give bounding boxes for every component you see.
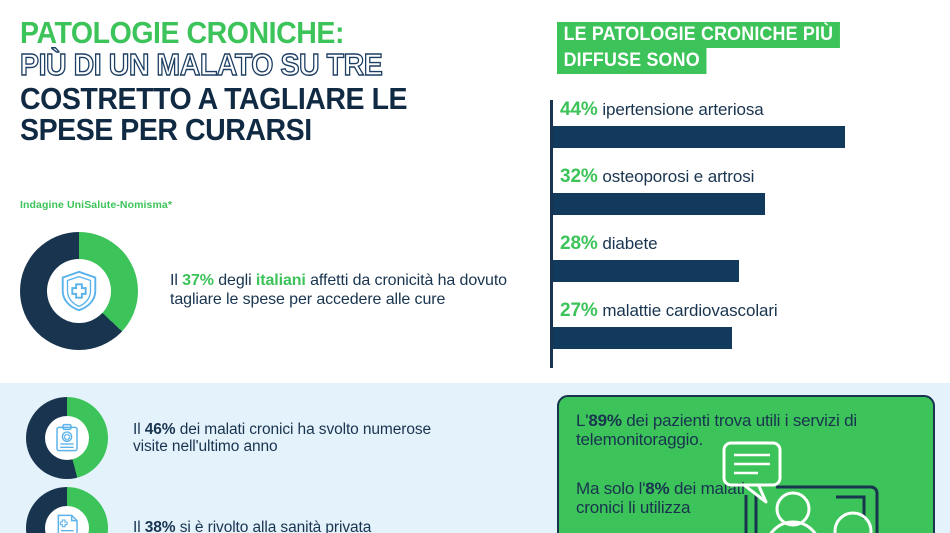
telemonitoring-card: L'89% dei pazienti trova utili i servizi…: [557, 395, 935, 533]
hero-stat-row: Il 37% degli italiani affetti da cronici…: [20, 232, 520, 350]
telemonitoring-chat-people-icon: [718, 439, 933, 533]
stat-row-38: Il 38% si è rivolto alla sanità privata: [26, 487, 463, 533]
clipboard-medical-icon: [51, 422, 83, 454]
chart-title-line-2: DIFFUSE SONO: [557, 48, 706, 74]
bar-group: 28% diabete: [553, 234, 739, 282]
bar-label: 28% diabete: [553, 234, 739, 253]
hero-pct: 37%: [182, 272, 214, 289]
card-line1-prefix: L': [576, 411, 588, 430]
donut-chart-37: [20, 232, 138, 350]
donut-hole: [45, 506, 89, 533]
row46-suffix: dei malati cronici ha svolto numerose vi…: [133, 421, 431, 456]
bar: [553, 193, 765, 215]
stat-row-46-text: Il 46% dei malati cronici ha svolto nume…: [133, 421, 463, 456]
donut-hole: [45, 416, 89, 460]
donut-chart-38: [26, 487, 108, 533]
card-line2-prefix: Ma solo l': [576, 479, 645, 498]
bar-label: 27% malattie cardiovascolari: [553, 301, 778, 320]
stat-row-46: Il 46% dei malati cronici ha svolto nume…: [26, 397, 463, 479]
chart-title-line-1: LE PATOLOGIE CRONICHE PIÙ: [557, 22, 840, 48]
left-column: PATOLOGIE CRONICHE: PIÙ DI UN MALATO SU …: [0, 0, 540, 533]
headline-line-1: PATOLOGIE CRONICHE:: [20, 18, 480, 48]
source-credit: Indagine UniSalute-Nomisma*: [20, 199, 172, 211]
prescription-document-icon: [51, 512, 83, 533]
bar-category-label: ipertensione arteriosa: [598, 100, 764, 119]
stat-row-38-text: Il 38% si è rivolto alla sanità privata: [133, 519, 463, 533]
row46-prefix: Il: [133, 421, 145, 438]
card-line2-pct: 8%: [645, 479, 669, 498]
row38-suffix: si è rivolto alla sanità privata: [176, 519, 372, 533]
donut-hole: [47, 259, 111, 323]
hero-stat-text: Il 37% degli italiani affetti da cronici…: [170, 272, 520, 309]
page-title: PATOLOGIE CRONICHE: PIÙ DI UN MALATO SU …: [20, 18, 520, 146]
bar-value-label: 27%: [560, 300, 598, 321]
bar-category-label: osteoporosi e artrosi: [598, 167, 755, 186]
bar-value-label: 32%: [560, 166, 598, 187]
hero-text-prefix: Il: [170, 272, 182, 289]
bar-value-label: 28%: [560, 233, 598, 254]
bar-group: 44% ipertensione arteriosa: [553, 100, 845, 148]
bar-value-label: 44%: [560, 99, 598, 120]
headline-line-2: PIÙ DI UN MALATO SU TRE: [20, 50, 480, 80]
bar-group: 32% osteoporosi e artrosi: [553, 167, 765, 215]
card-line1-pct: 89%: [588, 411, 621, 430]
row38-prefix: Il: [133, 519, 145, 533]
right-column: LE PATOLOGIE CRONICHE PIÙ DIFFUSE SONO 4…: [540, 0, 950, 533]
hero-text-mid: degli: [214, 272, 256, 289]
bar-label: 32% osteoporosi e artrosi: [553, 167, 765, 186]
bar-group: 27% malattie cardiovascolari: [553, 301, 778, 349]
hero-bold-word: italiani: [256, 272, 306, 289]
bar-label: 44% ipertensione arteriosa: [553, 100, 845, 119]
donut-chart-46: [26, 397, 108, 479]
row46-pct: 46%: [145, 421, 176, 438]
bar: [553, 327, 732, 349]
infographic-canvas: PATOLOGIE CRONICHE: PIÙ DI UN MALATO SU …: [0, 0, 950, 533]
bar: [553, 260, 739, 282]
headline-line-3: COSTRETTO A TAGLIARE LE: [20, 84, 480, 114]
row38-pct: 38%: [145, 519, 176, 533]
bar: [553, 126, 845, 148]
bar-category-label: diabete: [598, 234, 658, 253]
shield-cross-icon: [56, 268, 102, 314]
chart-title: LE PATOLOGIE CRONICHE PIÙ DIFFUSE SONO: [557, 22, 858, 74]
headline-line-4: SPESE PER CURARSI: [20, 115, 480, 145]
bar-chart: 44% ipertensione arteriosa32% osteoporos…: [550, 100, 950, 370]
bar-category-label: malattie cardiovascolari: [598, 301, 778, 320]
